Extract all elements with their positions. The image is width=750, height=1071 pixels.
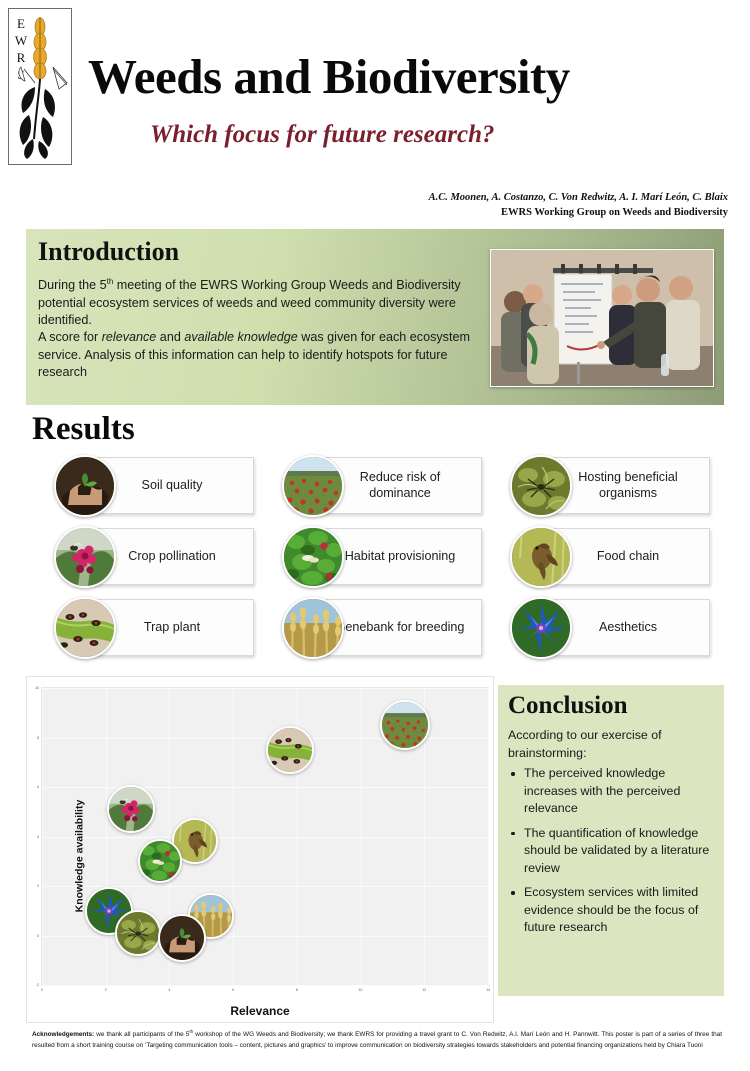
- food-chain-thumb-art: [512, 528, 570, 586]
- introduction-panel: Introduction During the 5th meeting of t…: [26, 229, 724, 405]
- poppy-field-icon: [282, 455, 344, 517]
- conclusion-heading: Conclusion: [508, 691, 627, 721]
- chart-gridline-horizontal: [42, 787, 488, 788]
- intro-sentence-1-a: During the 5: [38, 278, 107, 292]
- service-card-food-chain[interactable]: Food chain: [510, 528, 708, 583]
- scatter-point-soil-quality[interactable]: [158, 914, 206, 962]
- page-title: Weeds and Biodiversity: [88, 50, 708, 104]
- workshop-photo-illustration: [491, 250, 713, 386]
- hands-holding-soil-seedling-icon: [54, 455, 116, 517]
- conclusion-bullet: Ecosystem services with limited evidence…: [508, 884, 718, 937]
- pollination-thumb-art: [109, 787, 153, 831]
- beetles-on-stem-icon: [54, 597, 116, 659]
- results-heading: Results: [32, 410, 135, 448]
- scatter-point-trap-plant[interactable]: [266, 726, 314, 774]
- service-card-label: Food chain: [552, 528, 704, 583]
- service-card-label: Aesthetics: [552, 599, 704, 654]
- intro-emphasis-relevance: relevance: [102, 330, 157, 344]
- introduction-body: During the 5th meeting of the EWRS Worki…: [38, 273, 478, 382]
- scatter-point-reduce-risk-of-dominance[interactable]: [380, 700, 430, 750]
- beneficial-organism-thumb-art: [117, 912, 159, 954]
- chart-x-tick-label: 14: [486, 988, 490, 992]
- trap-plant-thumb-art: [268, 728, 312, 772]
- service-card-aesthetics[interactable]: Aesthetics: [510, 599, 708, 654]
- conclusion-bullet: The quantification of knowledge should b…: [508, 825, 718, 878]
- service-card-label: Reduce risk of dominance: [324, 457, 476, 512]
- spider-on-plant-icon: [510, 455, 572, 517]
- acknowledgements-label: Acknowledgements:: [32, 1031, 94, 1038]
- chart-gridline-horizontal: [42, 985, 488, 986]
- blue-cornflower-icon: [510, 597, 572, 659]
- intro-sentence-2-b: and: [156, 330, 184, 344]
- chart-y-tick-label: 4: [37, 835, 39, 839]
- service-card-label: Genebank for breeding: [324, 599, 476, 654]
- service-card-soil-quality[interactable]: Soil quality: [54, 457, 252, 512]
- genebank-thumb-art: [284, 599, 342, 657]
- intro-emphasis-knowledge: available knowledge: [184, 330, 297, 344]
- page-subtitle: Which focus for future research?: [150, 120, 710, 149]
- service-card-label: Habitat provisioning: [324, 528, 476, 583]
- service-card-crop-pollination[interactable]: Crop pollination: [54, 528, 252, 583]
- chart-x-tick-label: 6: [232, 988, 234, 992]
- ewrs-logo: E W R S: [8, 8, 72, 165]
- chart-y-axis-label: Knowledge availability: [73, 800, 85, 913]
- acknowledgements-text-a: we thank all participants of the 5: [94, 1031, 189, 1038]
- chart-x-tick-label: 12: [422, 988, 426, 992]
- chart-y-tick-label: 10: [35, 686, 39, 690]
- scatter-point-habitat-provisioning[interactable]: [138, 839, 182, 883]
- workshop-photo: [490, 249, 714, 387]
- chart-gridline-horizontal: [42, 688, 488, 689]
- service-card-reduce-risk-of-dominance[interactable]: Reduce risk of dominance: [282, 457, 480, 512]
- conclusion-bullet: The perceived knowledge increases with t…: [508, 765, 718, 818]
- chart-x-tick-label: 4: [168, 988, 170, 992]
- beneficial-organism-thumb-art: [512, 457, 570, 515]
- soil-thumb-art: [56, 457, 114, 515]
- service-card-label: Crop pollination: [96, 528, 248, 583]
- service-card-label: Trap plant: [96, 599, 248, 654]
- poppy-thumb-art: [284, 457, 342, 515]
- pink-flowers-bee-icon: [54, 526, 116, 588]
- scatter-point-crop-pollination[interactable]: [107, 785, 155, 833]
- chart-gridline-horizontal: [42, 837, 488, 838]
- service-card-habitat-provisioning[interactable]: Habitat provisioning: [282, 528, 480, 583]
- chart-y-tick-label: 0: [37, 934, 39, 938]
- conclusion-bullet-list: The perceived knowledge increases with t…: [508, 765, 718, 944]
- aesthetics-thumb-art: [512, 599, 570, 657]
- chart-x-tick-label: 2: [105, 988, 107, 992]
- poster-root: E W R S: [0, 0, 750, 1071]
- intro-sentence-2-a: A score for: [38, 330, 102, 344]
- conclusion-panel: Conclusion According to our exercise of …: [498, 685, 724, 996]
- acknowledgements: Acknowledgements: we thank all participa…: [32, 1027, 722, 1051]
- trap-plant-thumb-art: [56, 599, 114, 657]
- conclusion-intro-text: According to our exercise of brainstormi…: [508, 727, 713, 762]
- chart-y-tick-label: 6: [37, 785, 39, 789]
- habitat-thumb-art: [284, 528, 342, 586]
- service-card-genebank-for-breeding[interactable]: Genebank for breeding: [282, 599, 480, 654]
- chart-gridline-horizontal: [42, 936, 488, 937]
- chart-gridline-vertical: [488, 688, 489, 985]
- green-leaves-insects-icon: [282, 526, 344, 588]
- service-card-hosting-beneficial-organisms[interactable]: Hosting beneficial organisms: [510, 457, 708, 512]
- wheat-ears-icon: [282, 597, 344, 659]
- service-card-label: Soil quality: [96, 457, 248, 512]
- service-card-trap-plant[interactable]: Trap plant: [54, 599, 252, 654]
- chart-x-axis-label: Relevance: [27, 1004, 493, 1018]
- chart-y-tick-label: 2: [37, 884, 39, 888]
- chart-plot-area: 02468101214-20246810: [41, 687, 489, 986]
- soil-thumb-art: [160, 916, 204, 960]
- wheat-and-weeds-icon: [9, 9, 71, 164]
- poppy-thumb-art: [382, 702, 428, 748]
- service-card-label: Hosting beneficial organisms: [552, 457, 704, 512]
- bird-on-stalk-icon: [510, 526, 572, 588]
- chart-y-tick-label: 8: [37, 736, 39, 740]
- pollination-thumb-art: [56, 528, 114, 586]
- affiliation: EWRS Working Group on Weeds and Biodiver…: [208, 205, 728, 220]
- introduction-heading: Introduction: [38, 237, 179, 267]
- chart-y-tick-label: -2: [36, 983, 39, 987]
- habitat-thumb-art: [140, 841, 180, 881]
- scatter-point-hosting-beneficial-organisms[interactable]: [115, 910, 161, 956]
- relevance-knowledge-scatter-chart: 02468101214-20246810: [26, 676, 494, 1023]
- author-list: A.C. Moonen, A. Costanzo, C. Von Redwitz…: [208, 190, 728, 205]
- chart-x-tick-label: 0: [41, 988, 43, 992]
- chart-x-tick-label: 10: [359, 988, 363, 992]
- ecosystem-service-card-grid: Soil quality Reduce risk of dominance: [54, 457, 714, 665]
- chart-x-tick-label: 8: [296, 988, 298, 992]
